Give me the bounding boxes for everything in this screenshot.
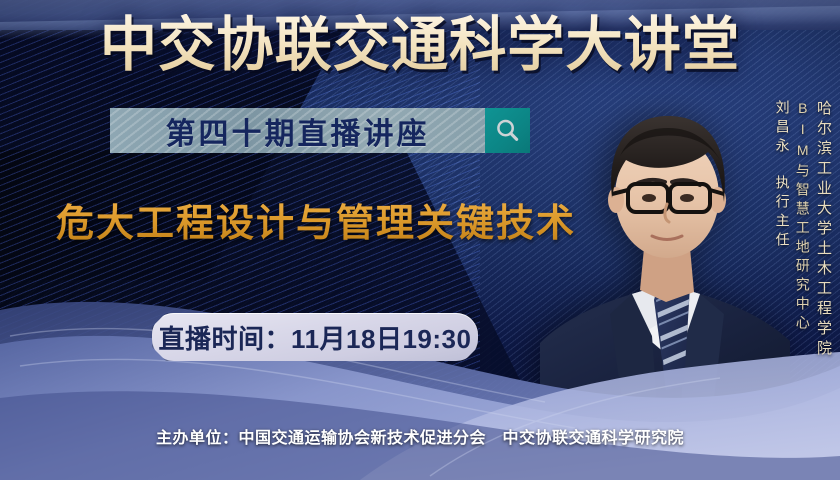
session-banner-band: 第四十期直播讲座 xyxy=(110,108,485,153)
search-icon-tile[interactable] xyxy=(485,108,530,153)
speaker-affiliation-org: 哈尔滨工业大学土木工程学院 xyxy=(815,100,832,360)
page-title: 中交协联交通科学大讲堂 xyxy=(13,14,828,78)
webinar-poster: 中交协联交通科学大讲堂 第四十期直播讲座 危大工程设计与管理关键技术 直播时间：… xyxy=(0,0,840,480)
session-banner-label: 第四十期直播讲座 xyxy=(166,109,430,153)
organizer-footer: 主办单位：中国交通运输协会新技术促进分会 中交协联交通科学研究院 xyxy=(0,424,840,448)
speaker-name: 刘昌永 xyxy=(775,100,791,157)
speaker-info-columns: 刘昌永 执行主任 BIM与智慧工地研究中心 哈尔滨工业大学土木工程学院 xyxy=(775,100,832,360)
lecture-topic: 危大工程设计与管理关键技术 xyxy=(56,192,576,247)
speaker-portrait xyxy=(540,86,790,416)
speaker-role: 执行主任 xyxy=(775,175,791,251)
session-banner: 第四十期直播讲座 xyxy=(110,108,530,153)
search-icon xyxy=(494,117,521,144)
schedule-pill: 直播时间：11月18日19:30 xyxy=(152,313,478,361)
schedule-label: 直播时间：11月18日19:30 xyxy=(159,319,472,356)
speaker-identity-column: 刘昌永 执行主任 xyxy=(775,100,791,251)
speaker-affiliation-center: BIM与智慧工地研究中心 xyxy=(795,100,811,334)
